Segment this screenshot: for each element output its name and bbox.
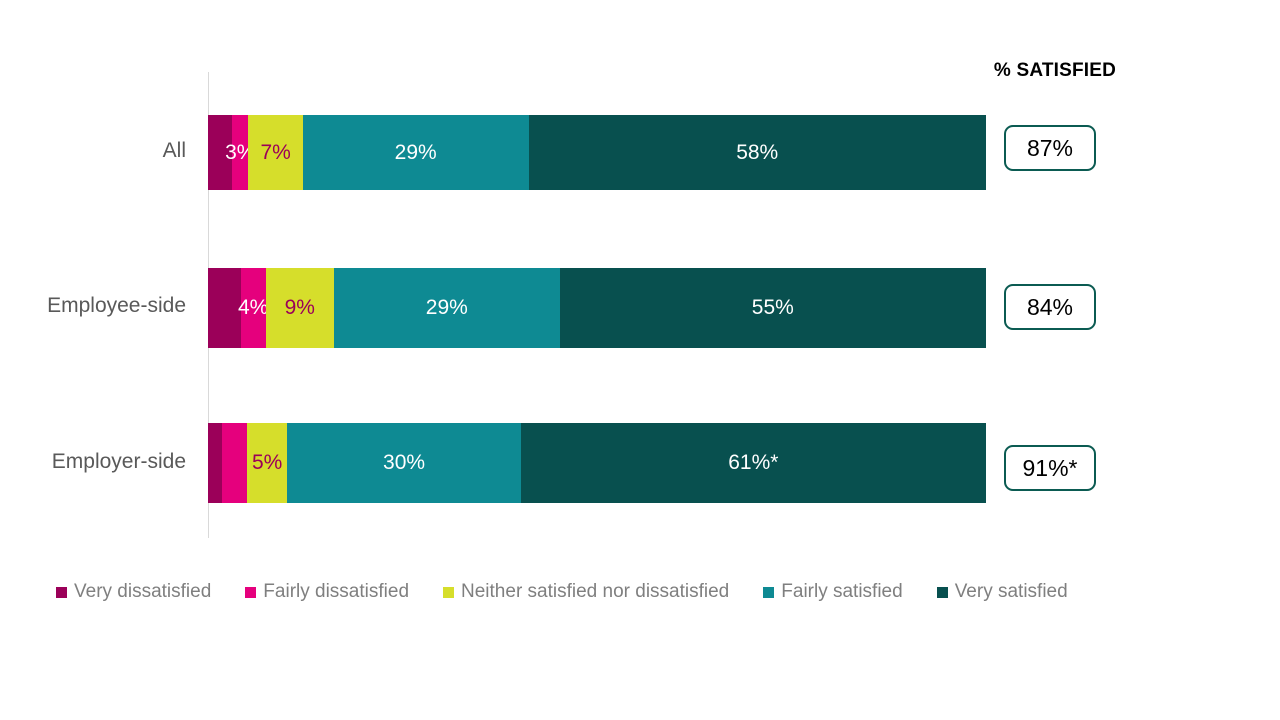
legend-swatch-icon xyxy=(763,587,774,598)
bar-segment[interactable]: 4% xyxy=(241,268,266,348)
legend-item[interactable]: Fairly dissatisfied xyxy=(245,581,409,603)
bar-segment[interactable]: 30% xyxy=(287,423,520,503)
legend-swatch-icon xyxy=(56,587,67,598)
bar-segment[interactable]: 29% xyxy=(303,115,529,190)
bar-segment[interactable]: 29% xyxy=(334,268,560,348)
legend-swatch-icon xyxy=(245,587,256,598)
bar-segment[interactable]: 5% xyxy=(247,423,287,503)
segment-value-label: 58% xyxy=(736,141,778,165)
percent-satisfied-callout[interactable]: 87% xyxy=(1004,125,1096,171)
percent-satisfied-callout[interactable]: 84% xyxy=(1004,284,1096,330)
bar-row: 4%9%29%55% xyxy=(208,268,986,348)
legend-label: Fairly satisfied xyxy=(781,581,902,603)
segment-value-label: 5% xyxy=(252,451,282,475)
segment-value-label: 29% xyxy=(426,296,468,320)
legend-item[interactable]: Very dissatisfied xyxy=(56,581,211,603)
bar-segment[interactable] xyxy=(208,115,232,190)
bar-segment[interactable]: 9% xyxy=(266,268,334,348)
bar-segment[interactable]: 3% xyxy=(232,115,248,190)
bar-segment[interactable]: 61%* xyxy=(521,423,986,503)
bar-segment[interactable] xyxy=(208,423,222,503)
legend-label: Neither satisfied nor dissatisfied xyxy=(461,581,729,603)
stacked-bar: 4%9%29%55% xyxy=(208,268,986,348)
category-label: Employee-side xyxy=(0,294,186,318)
legend-swatch-icon xyxy=(443,587,454,598)
legend-label: Very dissatisfied xyxy=(74,581,211,603)
legend-label: Very satisfied xyxy=(955,581,1068,603)
legend-item[interactable]: Fairly satisfied xyxy=(763,581,902,603)
percent-satisfied-header: % SATISFIED xyxy=(975,60,1135,82)
bar-segment[interactable] xyxy=(208,268,241,348)
category-label: All xyxy=(0,139,186,163)
chart-legend: Very dissatisfiedFairly dissatisfiedNeit… xyxy=(56,578,1236,606)
bar-segment[interactable]: 7% xyxy=(248,115,302,190)
segment-value-label: 61%* xyxy=(728,451,778,475)
stacked-bar-chart: % SATISFIED 3%7%29%58%4%9%29%55%5%30%61%… xyxy=(0,0,1280,720)
percent-satisfied-callout[interactable]: 91%* xyxy=(1004,445,1096,491)
category-label: Employer-side xyxy=(0,450,186,474)
legend-label: Fairly dissatisfied xyxy=(263,581,409,603)
legend-item[interactable]: Neither satisfied nor dissatisfied xyxy=(443,581,729,603)
stacked-bar: 5%30%61%* xyxy=(208,423,986,503)
segment-value-label: 55% xyxy=(752,296,794,320)
plot-area: 3%7%29%58%4%9%29%55%5%30%61%* xyxy=(208,72,986,537)
legend-item[interactable]: Very satisfied xyxy=(937,581,1068,603)
segment-value-label: 4% xyxy=(238,296,268,320)
segment-value-label: 9% xyxy=(285,296,315,320)
bar-segment[interactable]: 58% xyxy=(529,115,986,190)
legend-swatch-icon xyxy=(937,587,948,598)
segment-value-label: 7% xyxy=(260,141,290,165)
bar-segment[interactable] xyxy=(222,423,247,503)
bar-row: 5%30%61%* xyxy=(208,423,986,503)
segment-value-label: 29% xyxy=(395,141,437,165)
bar-row: 3%7%29%58% xyxy=(208,115,986,190)
bar-segment[interactable]: 55% xyxy=(560,268,986,348)
stacked-bar: 3%7%29%58% xyxy=(208,115,986,190)
segment-value-label: 30% xyxy=(383,451,425,475)
